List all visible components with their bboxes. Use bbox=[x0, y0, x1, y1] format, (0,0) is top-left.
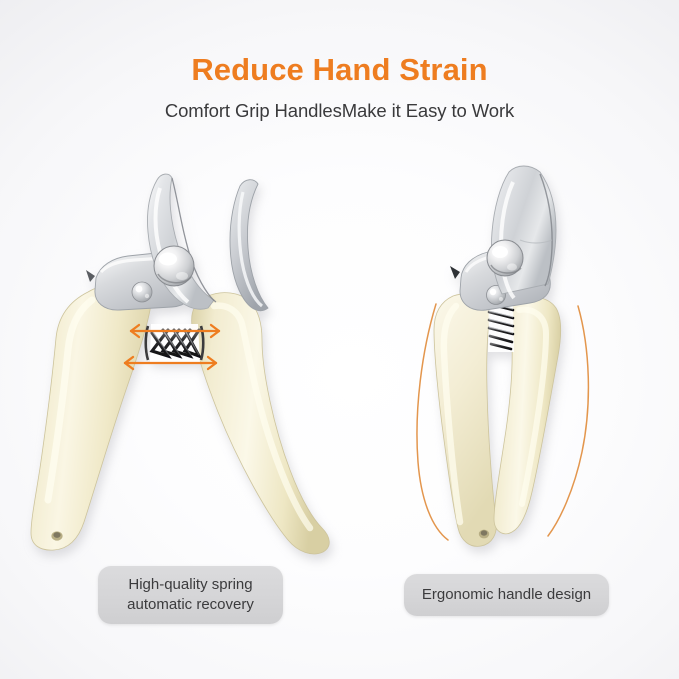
infographic-canvas: Reduce Hand Strain Comfort Grip HandlesM… bbox=[0, 0, 679, 679]
caption-spring-line1: High-quality spring bbox=[128, 576, 252, 593]
shears-closed-right bbox=[434, 166, 561, 546]
caption-spring-text: High-quality spring automatic recovery bbox=[127, 575, 254, 615]
anvil-blade bbox=[230, 180, 268, 311]
caption-spring: High-quality spring automatic recovery bbox=[98, 566, 283, 624]
caption-ergonomic-text: Ergonomic handle design bbox=[422, 585, 591, 605]
spring-coil bbox=[146, 324, 204, 362]
handle-left-lower bbox=[31, 285, 150, 550]
caption-spring-line2: automatic recovery bbox=[127, 596, 254, 613]
rivet-icon bbox=[132, 282, 152, 302]
caption-ergonomic: Ergonomic handle design bbox=[404, 574, 609, 616]
